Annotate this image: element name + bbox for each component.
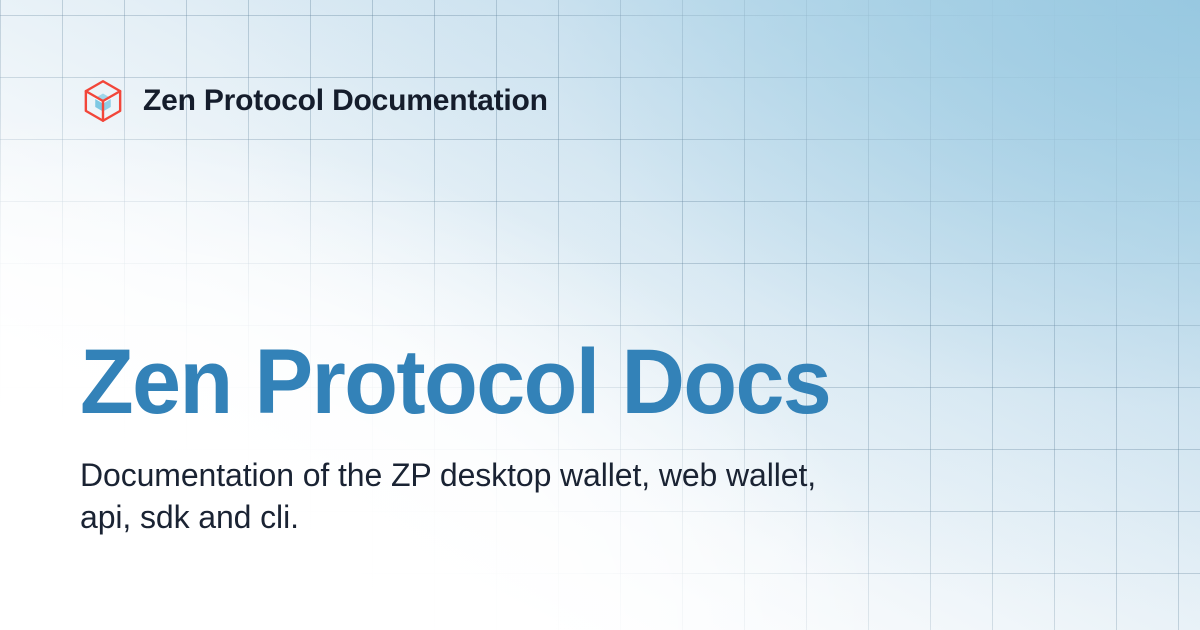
hero-block: Zen Protocol Docs Documentation of the Z… <box>80 336 940 538</box>
card-content: Zen Protocol Documentation Zen Protocol … <box>0 0 1200 630</box>
brand-lockup[interactable]: Zen Protocol Documentation <box>80 78 548 124</box>
og-card: Zen Protocol Documentation Zen Protocol … <box>0 0 1200 630</box>
page-subtitle: Documentation of the ZP desktop wallet, … <box>80 428 825 538</box>
brand-name-label: Zen Protocol Documentation <box>143 86 548 116</box>
zen-protocol-cube-logo-icon <box>80 78 126 124</box>
page-title: Zen Protocol Docs <box>80 336 901 428</box>
